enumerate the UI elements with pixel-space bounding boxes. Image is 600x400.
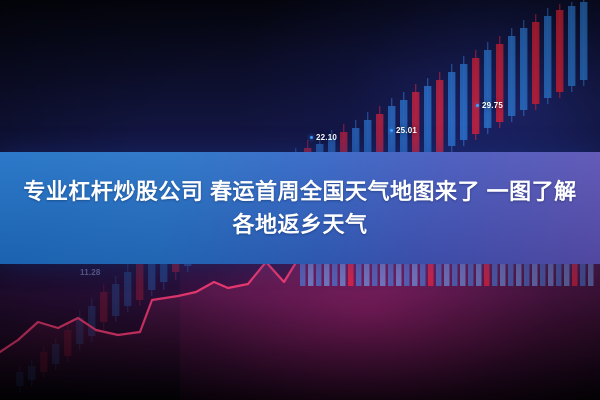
screenshot-root: 22.1025.0129.7518.0718.7511.28 专业杠杆炒股公司 … bbox=[0, 0, 600, 400]
annotation-value: 22.10 bbox=[316, 133, 337, 142]
annotation-value: 25.01 bbox=[396, 126, 417, 135]
chart-value-label: 22.10 bbox=[310, 133, 337, 142]
chart-value-label: 29.75 bbox=[476, 101, 503, 110]
annotation-dot-icon bbox=[390, 129, 393, 132]
headline-banner: 专业杠杆炒股公司 春运首周全国天气地图来了 一图了解各地返乡天气 bbox=[0, 152, 600, 264]
chart-value-label: 11.28 bbox=[80, 268, 101, 277]
annotation-value: 29.75 bbox=[482, 101, 503, 110]
headline-text: 专业杠杆炒股公司 春运首周全国天气地图来了 一图了解各地返乡天气 bbox=[0, 175, 600, 241]
annotation-value: 11.28 bbox=[80, 268, 101, 277]
annotation-dot-icon bbox=[310, 136, 313, 139]
annotation-dot-icon bbox=[476, 104, 479, 107]
chart-value-label: 25.01 bbox=[390, 126, 417, 135]
